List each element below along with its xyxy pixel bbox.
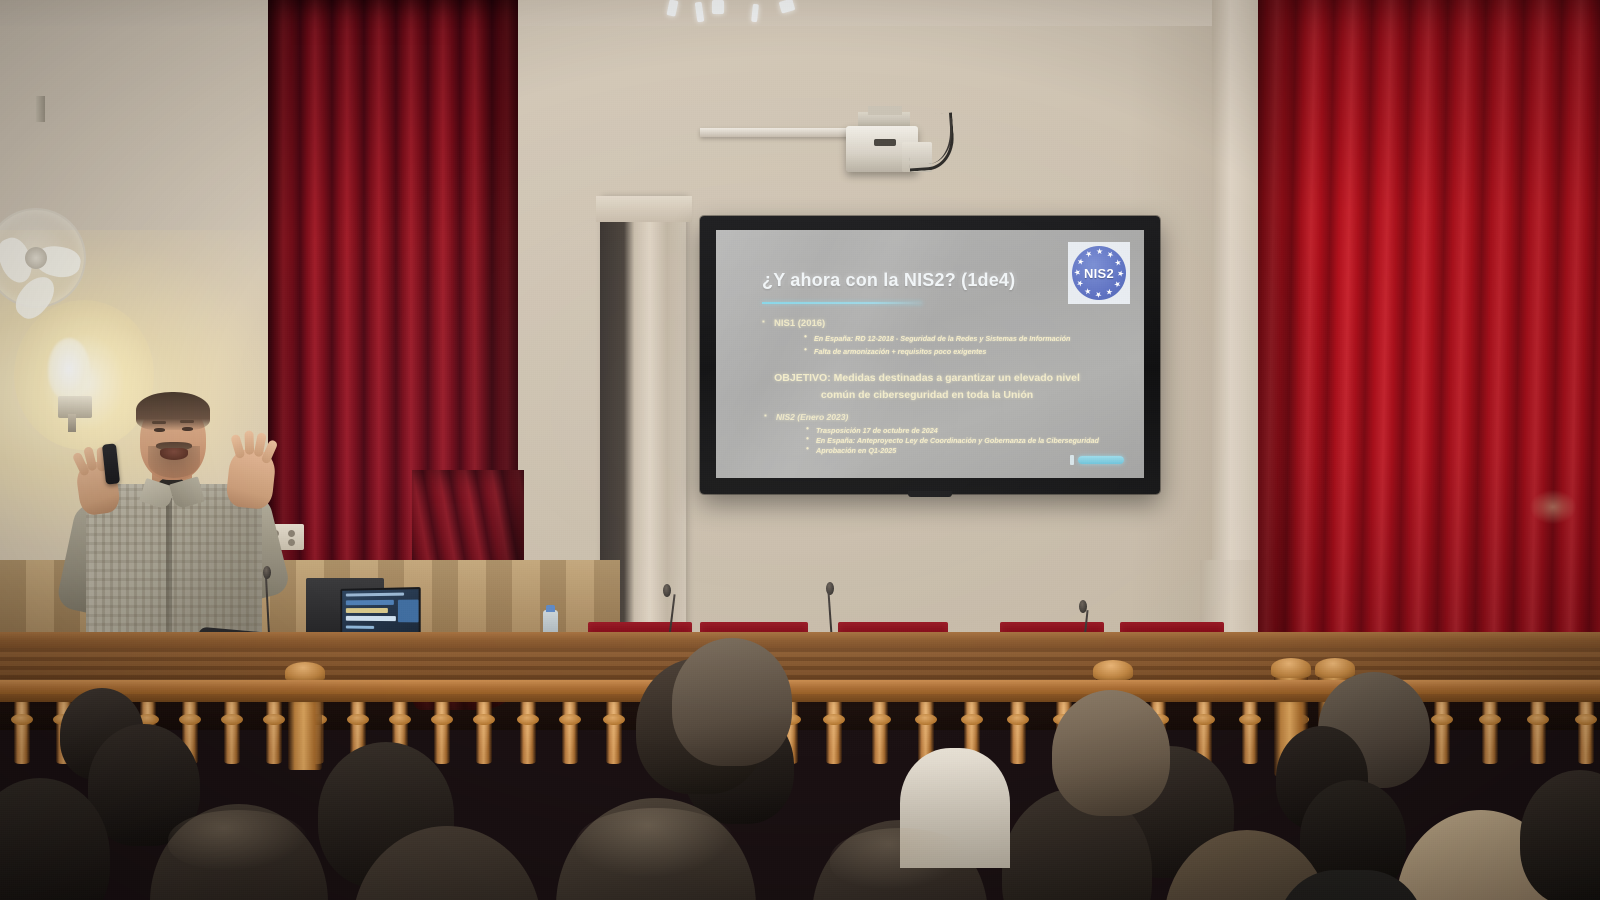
laptop-ui-bar	[346, 600, 394, 605]
presenter-eyebrow	[180, 420, 194, 423]
eu-star: ★	[1084, 287, 1092, 295]
eu-star: ★	[1084, 251, 1092, 259]
slide-subbullet-nis1-1: En España: RD 12-2018 - Seguridad de la …	[814, 334, 1070, 343]
audience	[0, 630, 1600, 900]
eu-star: ★	[1113, 279, 1121, 287]
eu-star: ★	[1075, 270, 1081, 276]
audience-head	[1052, 690, 1170, 816]
eu-star: ★	[1113, 258, 1121, 266]
laptop-ui-bar	[346, 593, 404, 597]
photo-scene: ¿Y ahora con la NIS2? (1de4) ★ ★ ★ ★ ★ ★…	[0, 0, 1600, 900]
projector-bracket	[868, 106, 902, 115]
fan-mount-arm	[36, 96, 45, 122]
slide-objective: OBJETIVO: Medidas destinadas a garantiza…	[762, 370, 1092, 405]
nis2-logo: ★ ★ ★ ★ ★ ★ ★ ★ ★ ★ ★ ★ NIS2	[1068, 242, 1130, 304]
finger	[230, 434, 245, 460]
chandelier-crystal	[712, 0, 724, 14]
laptop-ui-bar	[398, 600, 419, 623]
water-bottle-cap	[546, 605, 555, 612]
slide-subbullet-nis2-3: Aprobación en Q1-2025	[816, 446, 896, 455]
eu-star: ★	[1105, 251, 1113, 259]
slide-bullet-nis1: NIS1 (2016)	[774, 318, 825, 329]
slide-subbullet-nis2-2: En España: Anteproyecto Ley de Coordinac…	[816, 436, 1099, 445]
audience-hair-highlight	[576, 808, 736, 878]
door-header-moulding	[596, 196, 692, 222]
fan-hub	[25, 247, 47, 269]
slide-objective-line2: común de ciberseguridad en toda la Unión	[821, 389, 1033, 401]
nis2-logo-text: NIS2	[1084, 266, 1114, 281]
display-stand	[908, 491, 952, 497]
finger	[244, 430, 254, 454]
presenter-eye	[154, 428, 165, 432]
wall-fan	[0, 208, 86, 308]
slide-progress-pill[interactable]	[1078, 456, 1124, 464]
eu-star: ★	[1096, 291, 1102, 297]
audience-hair-highlight	[168, 810, 308, 870]
presentation-clicker[interactable]	[102, 443, 120, 484]
projector-lens	[874, 139, 896, 146]
slide-subbullet-nis1-2: Falta de armonización + requisitos poco …	[814, 347, 986, 356]
eu-star: ★	[1077, 279, 1085, 287]
slide-subbullet-nis2-1: Trasposición 17 de octubre de 2024	[816, 426, 938, 435]
audience-head	[672, 638, 792, 766]
presenter-mouth	[160, 448, 188, 460]
slide-bullet-nis2: NIS2 (Enero 2023)	[776, 412, 848, 422]
presenter-eye	[182, 427, 193, 431]
slide-nav-marker	[1070, 455, 1074, 465]
slide-title: ¿Y ahora con la NIS2? (1de4)	[762, 270, 1015, 291]
presentation-screen[interactable]: ¿Y ahora con la NIS2? (1de4) ★ ★ ★ ★ ★ ★…	[716, 230, 1144, 478]
eu-stars-circle: ★ ★ ★ ★ ★ ★ ★ ★ ★ ★ ★ ★ NIS2	[1072, 246, 1126, 300]
projector-ceiling-rail	[700, 128, 860, 137]
slide-objective-line1: OBJETIVO: Medidas destinadas a garantiza…	[774, 372, 1080, 384]
eu-star: ★	[1105, 287, 1113, 295]
presenter-eyebrow	[152, 421, 166, 424]
microphone-head	[263, 566, 271, 579]
laptop-ui-bar	[346, 626, 374, 629]
presenter-shirt-placket	[166, 498, 172, 640]
laptop-ui-bar	[346, 616, 396, 621]
audience-head	[1520, 770, 1600, 900]
audience-hair-highlight	[830, 828, 970, 890]
curtain-right	[1258, 0, 1600, 700]
presenter-hair	[136, 392, 210, 430]
microphone-head	[663, 584, 671, 597]
eu-star: ★	[1096, 249, 1102, 255]
presenter-right-hand	[225, 448, 277, 510]
eu-star: ★	[1117, 270, 1123, 276]
laptop-ui-bar	[346, 608, 388, 613]
slide-title-underline	[762, 302, 922, 304]
curtain-light-reflection	[1530, 490, 1576, 524]
